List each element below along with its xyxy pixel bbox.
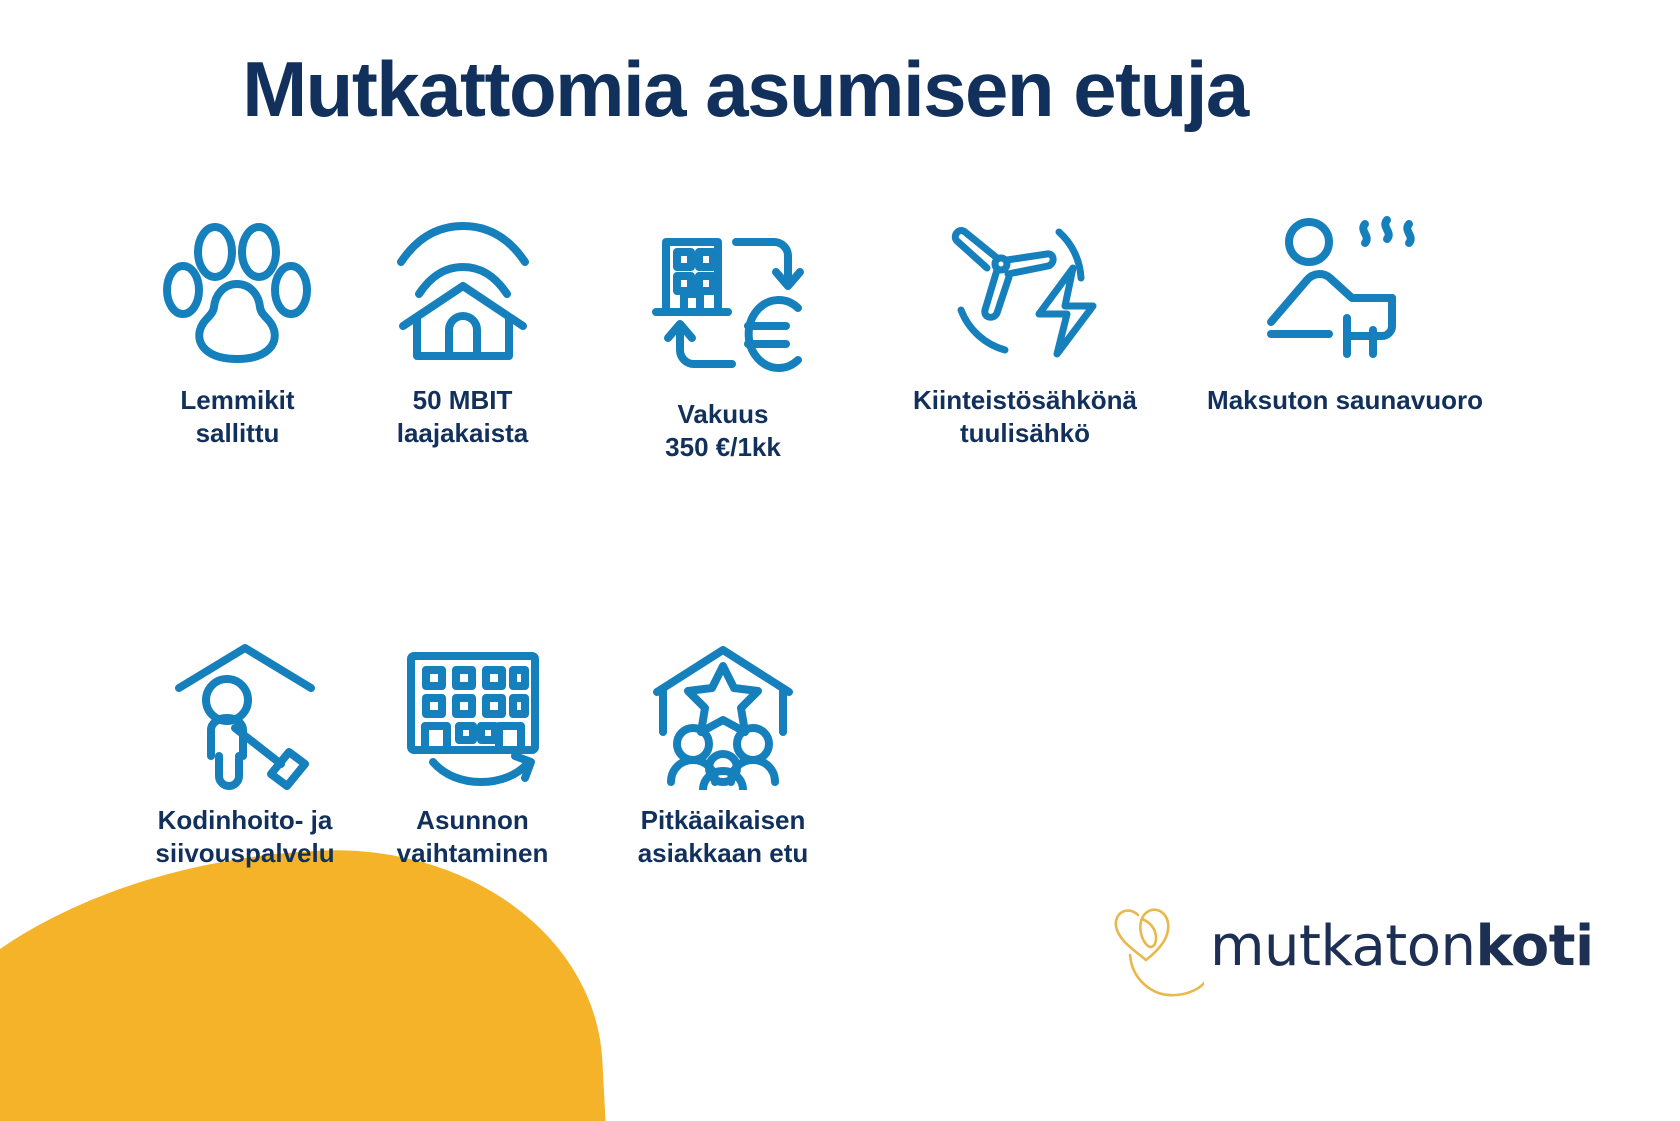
benefit-label: 50 MBIT laajakaista [355, 384, 570, 450]
benefit-label: Pitkäaikaisen asiakkaan etu [608, 804, 838, 870]
benefit-item-apartment-swap[interactable]: Asunnon vaihtaminen [365, 630, 580, 870]
wifi-house-icon [355, 210, 570, 370]
infographic-page: Mutkattomia asumisen etuja Lemmikit sall… [0, 0, 1680, 1121]
benefit-label: Asunnon vaihtaminen [365, 804, 580, 870]
benefit-label: Maksuton saunavuoro [1190, 384, 1500, 417]
brand-logo[interactable]: mutkatonkoti [1108, 886, 1538, 1006]
logo-text-bold: koti [1475, 914, 1593, 979]
page-title: Mutkattomia asumisen etuja [0, 44, 1490, 135]
benefit-label: Kiinteistösähkönä tuulisähkö [880, 384, 1170, 450]
logo-text-light: mutkaton [1210, 914, 1475, 979]
wind-turbine-bolt-icon [880, 210, 1170, 370]
benefit-item-loyalty[interactable]: Pitkäaikaisen asiakkaan etu [608, 630, 838, 870]
benefit-label: Lemmikit sallittu [130, 384, 345, 450]
apartment-swap-icon [365, 630, 580, 790]
benefit-label: Vakuus 350 €/1kk [608, 398, 838, 464]
benefits-row-1: Lemmikit sallittu 50 MBIT laajakaista [0, 210, 1680, 500]
yellow-heart-swoosh-icon [1108, 891, 1204, 1001]
benefit-item-wind-electricity[interactable]: Kiinteistösähkönä tuulisähkö [880, 210, 1170, 450]
benefit-item-pets[interactable]: Lemmikit sallittu [130, 210, 345, 450]
benefit-label: Kodinhoito- ja siivouspalvelu [130, 804, 360, 870]
benefits-row-2: Kodinhoito- ja siivouspalvelu [0, 630, 1680, 920]
sauna-person-steam-icon [1190, 210, 1500, 370]
building-euro-exchange-icon [608, 224, 838, 384]
paw-print-icon [130, 210, 345, 370]
benefit-item-sauna[interactable]: Maksuton saunavuoro [1190, 210, 1500, 417]
family-star-house-icon [608, 630, 838, 790]
benefit-item-cleaning[interactable]: Kodinhoito- ja siivouspalvelu [130, 630, 360, 870]
logo-wordmark: mutkatonkoti [1210, 914, 1594, 979]
benefit-item-broadband[interactable]: 50 MBIT laajakaista [355, 210, 570, 450]
benefits-grid: Lemmikit sallittu 50 MBIT laajakaista [0, 210, 1680, 920]
benefit-item-deposit[interactable]: Vakuus 350 €/1kk [608, 224, 838, 464]
cleaning-person-roof-icon [130, 630, 360, 790]
